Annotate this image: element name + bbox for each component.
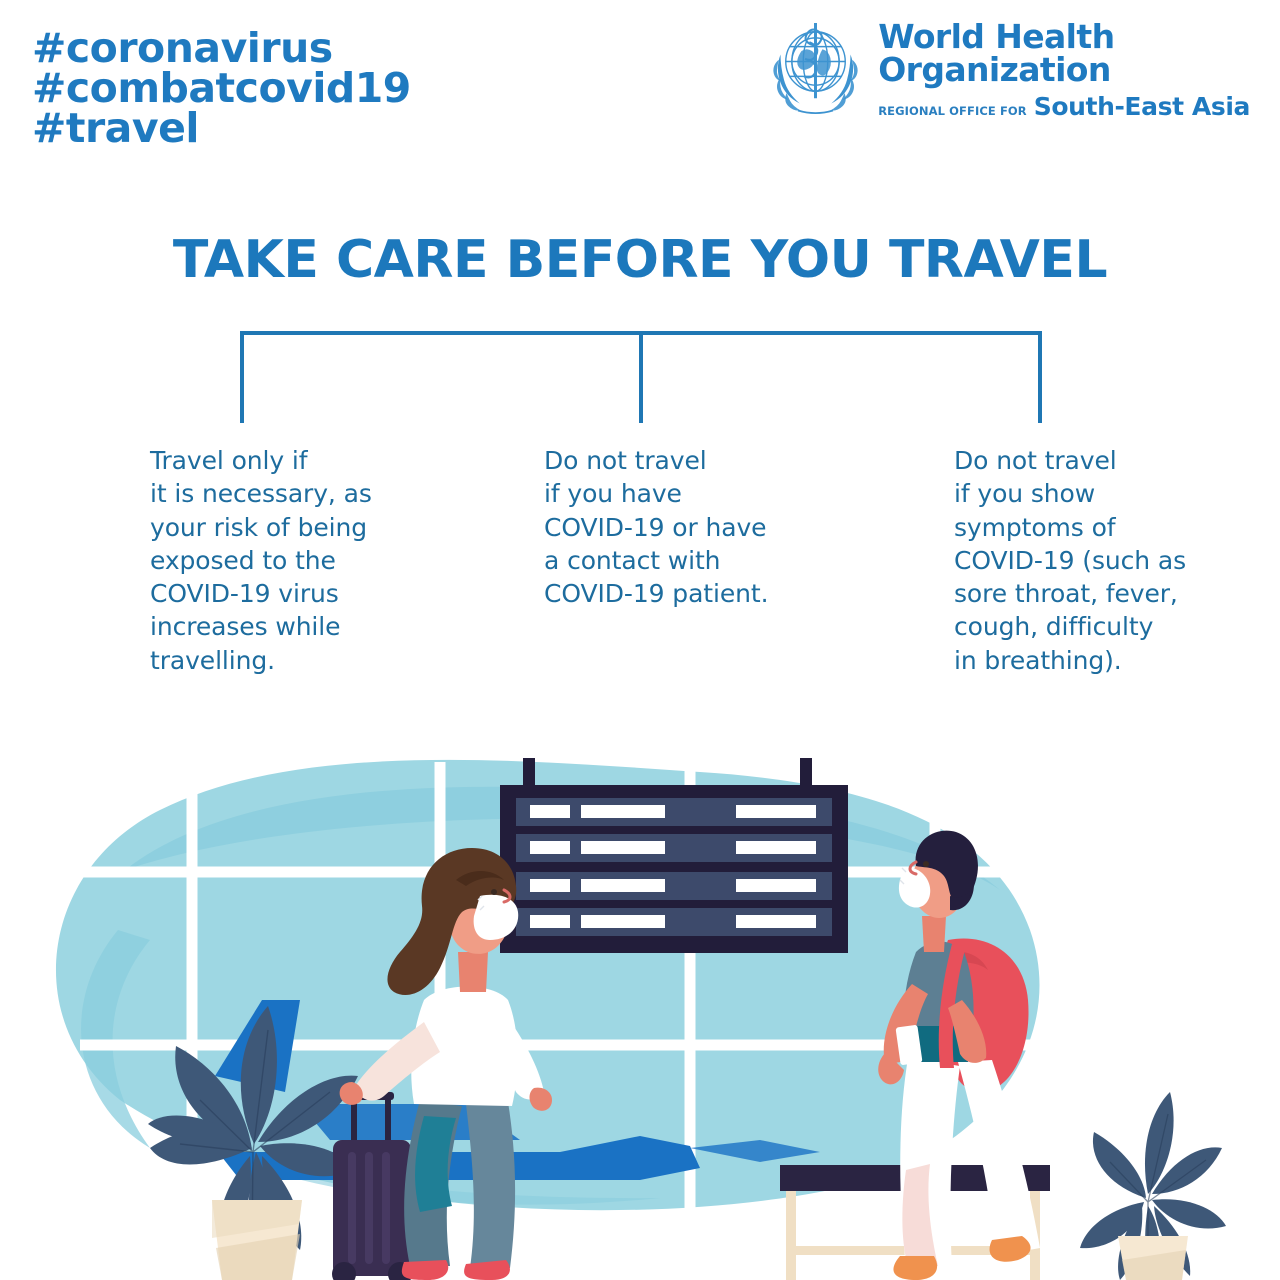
- page-title: TAKE CARE BEFORE YOU TRAVEL: [0, 232, 1280, 288]
- advice-line: symptoms of: [954, 511, 1186, 544]
- board-row: [516, 798, 832, 826]
- advice-line: if you have: [544, 477, 768, 510]
- advice-line: a contact with: [544, 544, 768, 577]
- advice-line: exposed to the: [150, 544, 372, 577]
- airport-terminal-illustration: [0, 700, 1280, 1280]
- advice-line: in breathing).: [954, 644, 1186, 677]
- advice-line: COVID-19 (such as: [954, 544, 1186, 577]
- who-wordmark: World Health Organization REGIONAL OFFIC…: [878, 16, 1250, 119]
- board-row: [516, 834, 832, 862]
- traveller-man-with-backpack: [878, 831, 1040, 1280]
- advice-line: COVID-19 patient.: [544, 577, 768, 610]
- departure-board: [500, 758, 848, 953]
- board-row: [516, 908, 832, 936]
- advice-line: COVID-19 or have: [544, 511, 768, 544]
- advice-line: cough, difficulty: [954, 610, 1186, 643]
- advice-line: Travel only if: [150, 444, 372, 477]
- hashtag-coronavirus: #coronavirus: [32, 28, 411, 68]
- advice-column-3: Do not travel if you show symptoms of CO…: [954, 444, 1186, 677]
- regional-office-label: REGIONAL OFFICE FOR: [878, 104, 1027, 118]
- advice-line: it is necessary, as: [150, 477, 372, 510]
- advice-line: Do not travel: [954, 444, 1186, 477]
- advice-line: your risk of being: [150, 511, 372, 544]
- advice-line: COVID-19 virus: [150, 577, 372, 610]
- who-name-line2: Organization: [878, 53, 1250, 86]
- advice-line: if you show: [954, 477, 1186, 510]
- who-logo: World Health Organization REGIONAL OFFIC…: [763, 16, 1250, 126]
- board-row: [516, 872, 832, 900]
- who-name-line1: World Health: [878, 20, 1250, 53]
- bracket-connector: [0, 325, 1280, 429]
- potted-plant-right: [1080, 1092, 1226, 1280]
- hashtag-travel: #travel: [32, 108, 411, 148]
- advice-column-2: Do not travel if you have COVID-19 or ha…: [544, 444, 768, 610]
- who-regional-office: REGIONAL OFFICE FOR South-East Asia: [878, 94, 1250, 119]
- advice-column-1: Travel only if it is necessary, as your …: [150, 444, 372, 677]
- advice-line: Do not travel: [544, 444, 768, 477]
- who-emblem-icon: [763, 16, 868, 126]
- advice-line: travelling.: [150, 644, 372, 677]
- hashtag-block: #coronavirus #combatcovid19 #travel: [32, 28, 411, 148]
- advice-line: sore throat, fever,: [954, 577, 1186, 610]
- hashtag-combatcovid19: #combatcovid19: [32, 68, 411, 108]
- regional-office-name: South-East Asia: [1034, 94, 1250, 119]
- advice-line: increases while: [150, 610, 372, 643]
